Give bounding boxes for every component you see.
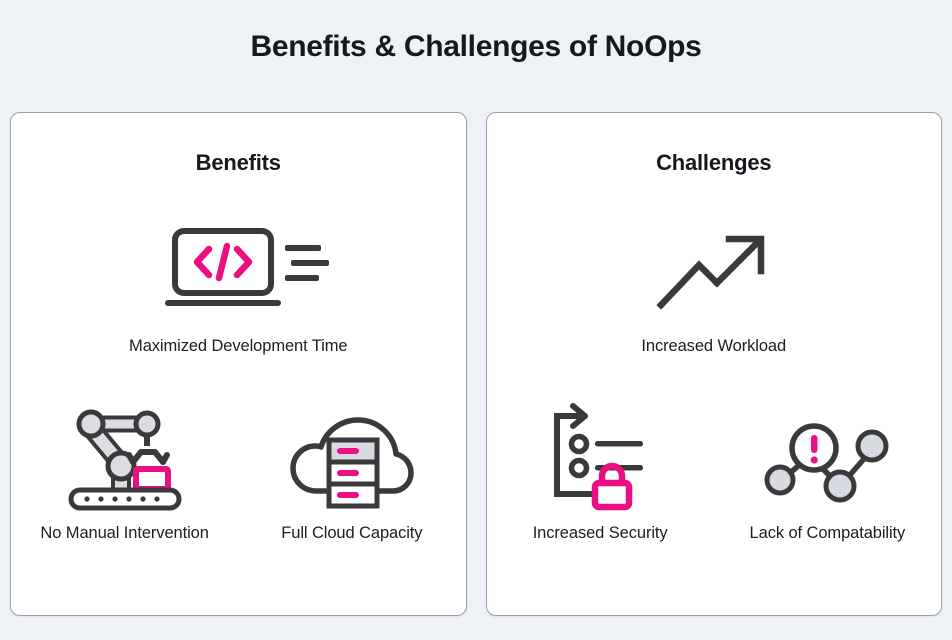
benefits-row-secondary: No Manual Intervention [11,401,466,544]
challenge-item-increased-workload: Increased Workload [487,214,942,357]
benefit-item-no-manual-intervention: No Manual Intervention [11,401,238,544]
challenges-row-secondary: Increased Security [487,401,942,544]
challenge-item-lack-of-compatability: Lack of Compatability [714,401,941,544]
challenge-label: Increased Security [533,523,668,544]
challenges-row-primary: Increased Workload [487,214,942,357]
page-title: Benefits & Challenges of NoOps [0,30,952,64]
infographic-page: Benefits & Challenges of NoOps Benefits [0,0,952,640]
rising-arrow-icon [655,214,773,324]
challenge-item-increased-security: Increased Security [487,401,714,544]
checklist-lock-icon [547,401,653,511]
cards-container: Benefits [10,112,942,616]
code-screen-icon [153,214,323,324]
challenge-label: Increased Workload [641,336,786,357]
robot-arm-icon [65,401,185,511]
benefit-item-full-cloud-capacity: Full Cloud Capacity [238,401,465,544]
benefits-row-primary: Maximized Development Time [11,214,466,357]
cloud-server-icon [289,401,415,511]
challenges-card-title: Challenges [487,150,942,176]
benefits-card-title: Benefits [11,150,466,176]
network-alert-icon [766,401,888,511]
benefit-label: Full Cloud Capacity [281,523,422,544]
challenges-card: Challenges Increased Workload [486,112,943,616]
benefits-card: Benefits [10,112,467,616]
challenge-label: Lack of Compatability [750,523,906,544]
benefit-label: Maximized Development Time [129,336,347,357]
benefit-label: No Manual Intervention [40,523,208,544]
benefit-item-maximized-development-time: Maximized Development Time [11,214,466,357]
